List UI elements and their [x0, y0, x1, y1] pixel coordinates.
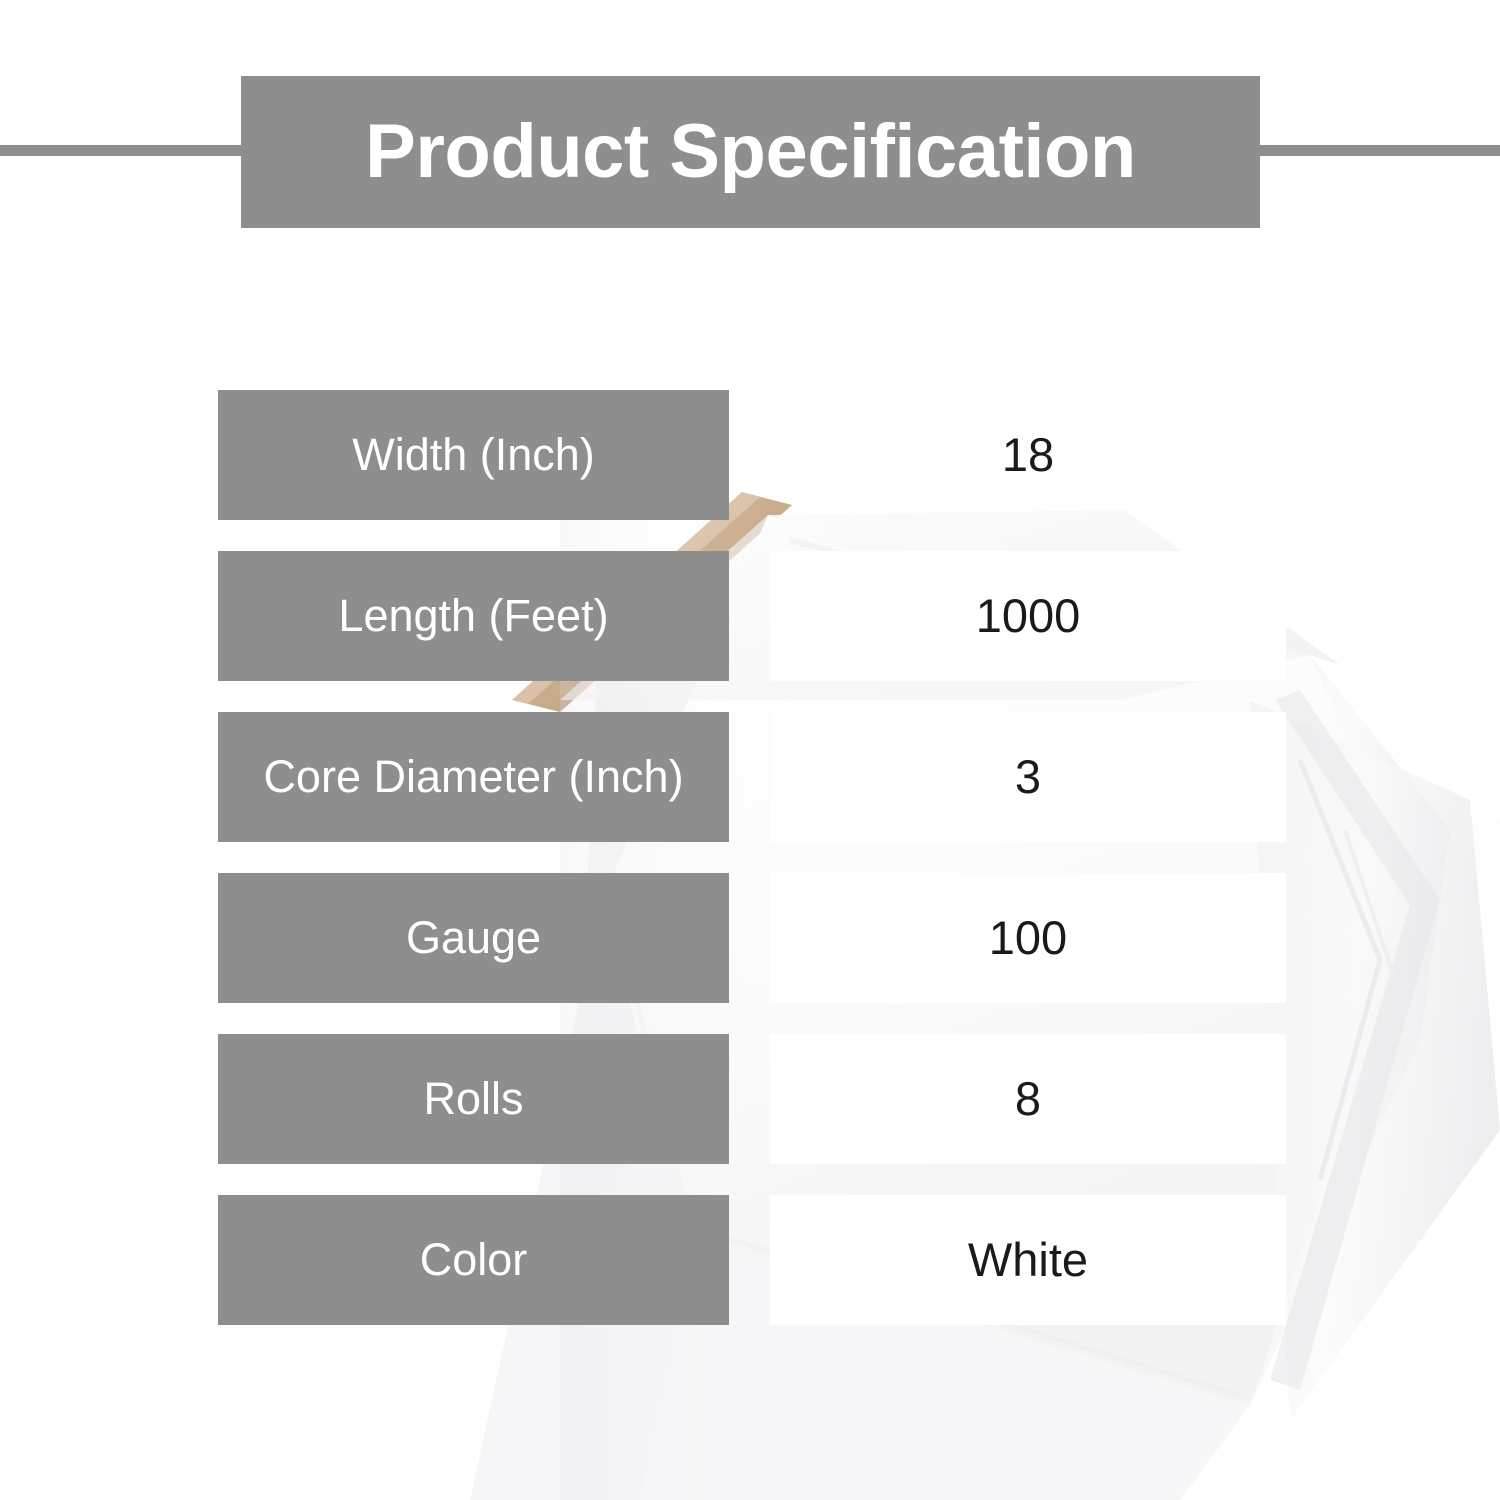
spec-value-core-diameter: 3	[770, 712, 1286, 842]
spec-value-width: 18	[770, 390, 1286, 520]
table-row: Gauge 100	[218, 873, 1286, 1003]
table-row: Color White	[218, 1195, 1286, 1325]
table-row: Length (Feet) 1000	[218, 551, 1286, 681]
spec-value-length: 1000	[770, 551, 1286, 681]
table-row: Core Diameter (Inch) 3	[218, 712, 1286, 842]
spec-label-gauge: Gauge	[218, 873, 729, 1003]
spec-label-width: Width (Inch)	[218, 390, 729, 520]
product-specification-graphic: Product Specification Width (Inch) 18 Le…	[0, 0, 1500, 1500]
spec-label-rolls: Rolls	[218, 1034, 729, 1164]
spec-value-color: White	[770, 1195, 1286, 1325]
spec-value-rolls: 8	[770, 1034, 1286, 1164]
title-banner: Product Specification	[241, 76, 1260, 228]
spec-label-color: Color	[218, 1195, 729, 1325]
specification-table: Width (Inch) 18 Length (Feet) 1000 Core …	[218, 390, 1286, 1325]
spec-value-gauge: 100	[770, 873, 1286, 1003]
spec-label-core-diameter: Core Diameter (Inch)	[218, 712, 729, 842]
table-row: Rolls 8	[218, 1034, 1286, 1164]
table-row: Width (Inch) 18	[218, 390, 1286, 520]
spec-label-length: Length (Feet)	[218, 551, 729, 681]
page-title: Product Specification	[365, 114, 1136, 190]
